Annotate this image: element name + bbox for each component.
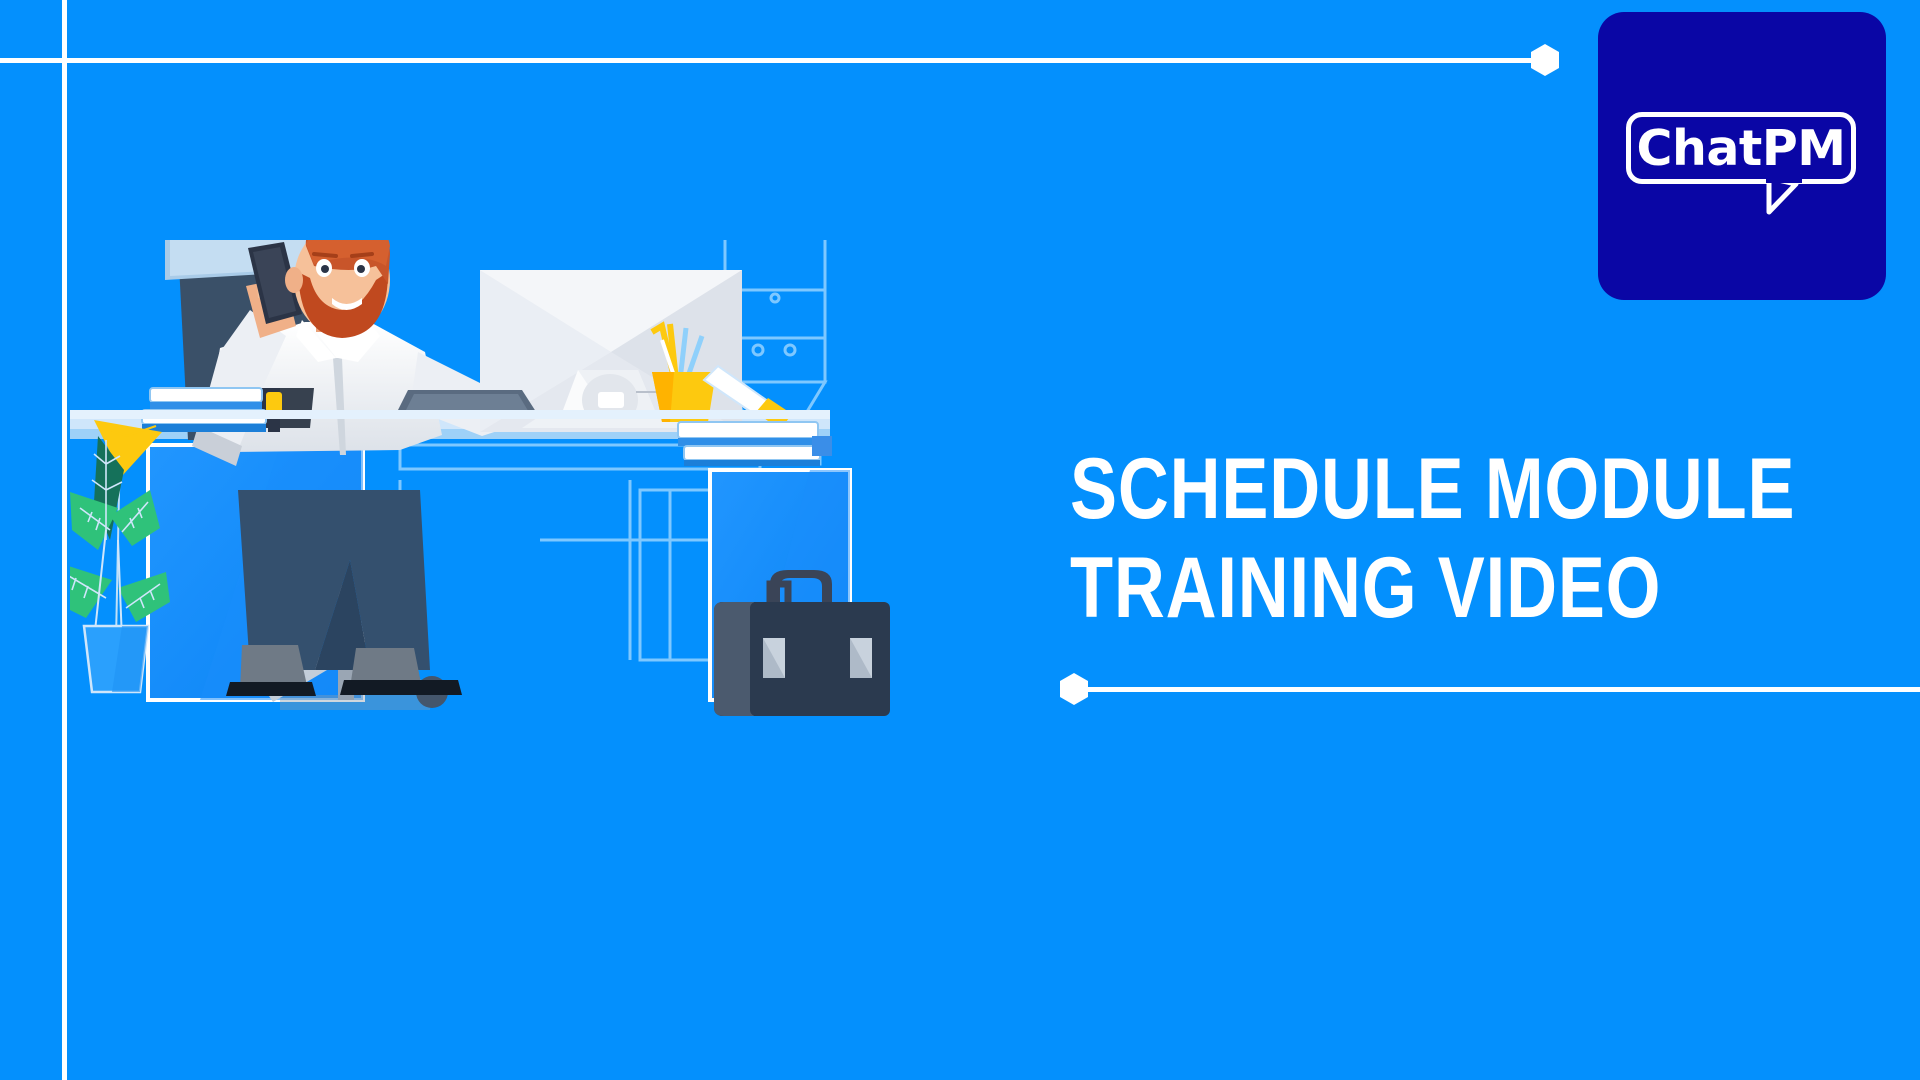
chatpm-logo: ChatPM [1598, 12, 1886, 300]
top-horizontal-rule [0, 58, 1543, 63]
left-vertical-rule [62, 0, 67, 1080]
logo-wordmark: ChatPM [1626, 112, 1856, 184]
hero-illustration [70, 240, 1030, 860]
slide-canvas: ChatPM SCHEDULE MODULE TRAINING VIDEO [0, 0, 1920, 1080]
title-line-2: TRAINING VIDEO [1070, 539, 1644, 638]
bottom-horizontal-rule [1072, 687, 1920, 692]
slide-title: SCHEDULE MODULE TRAINING VIDEO [1070, 440, 1770, 638]
hexagon-marker-top [1531, 44, 1559, 76]
desk-top-surface [70, 410, 830, 419]
title-line-1: SCHEDULE MODULE [1070, 440, 1644, 539]
book-stack-right [678, 422, 832, 466]
shoe-right [340, 648, 462, 695]
hexagon-marker-bottom [1060, 673, 1088, 705]
